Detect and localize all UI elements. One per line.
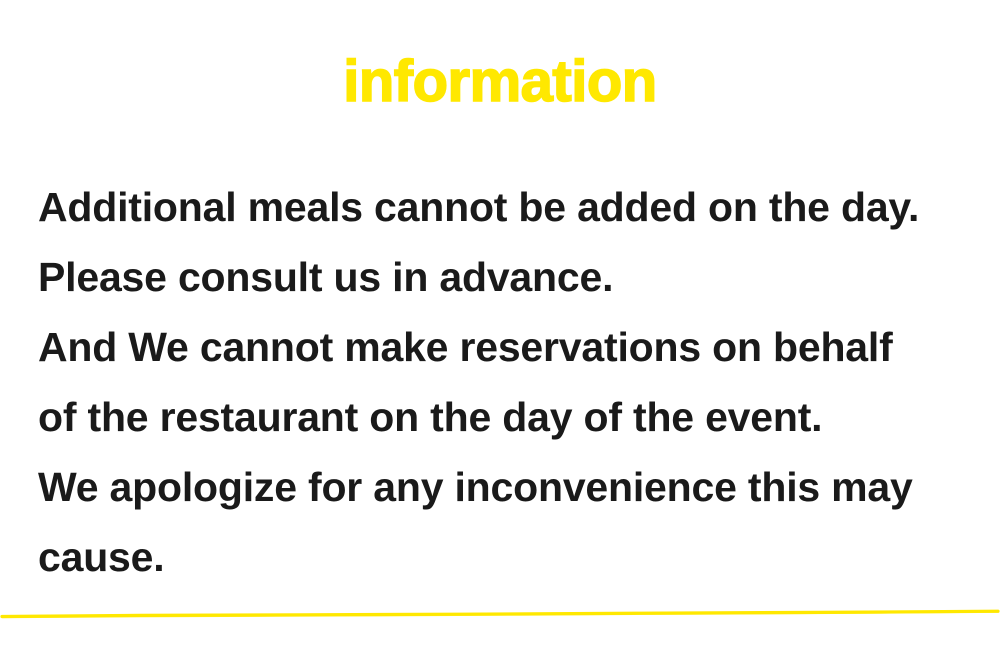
notice-body-text: Additional meals cannot be added on the … [38, 172, 978, 592]
page-title: information [0, 50, 1000, 114]
information-notice-card: information Additional meals cannot be a… [0, 0, 1000, 671]
hand-drawn-underline-icon [0, 598, 1000, 628]
notice-line: cause. [38, 522, 978, 592]
notice-line: Please consult us in advance. [38, 242, 978, 312]
notice-line: Additional meals cannot be added on the … [38, 172, 978, 242]
notice-line: of the restaurant on the day of the even… [38, 382, 978, 452]
notice-line: And We cannot make reservations on behal… [38, 312, 978, 382]
notice-line: We apologize for any inconvenience this … [38, 452, 978, 522]
